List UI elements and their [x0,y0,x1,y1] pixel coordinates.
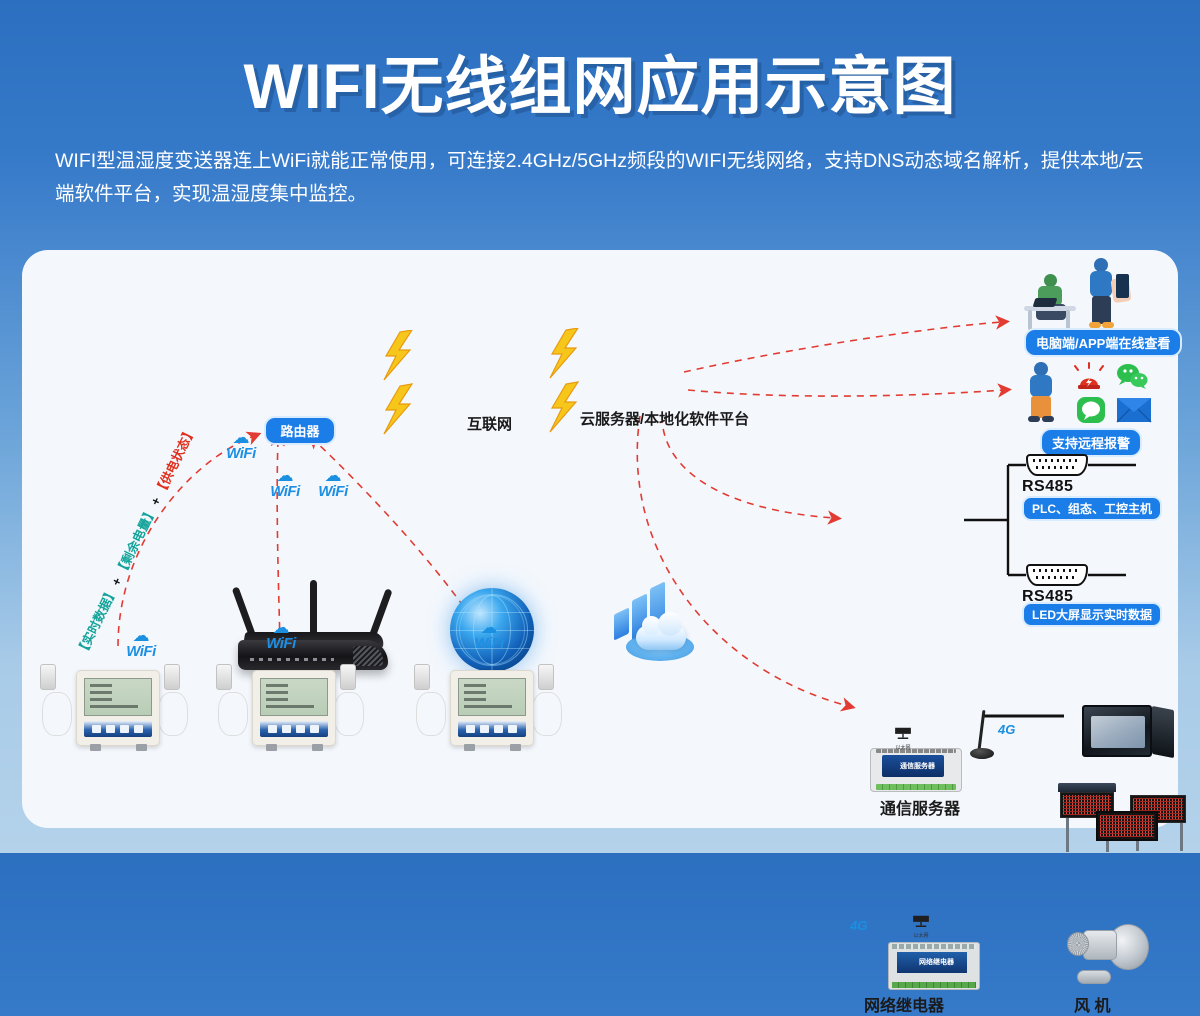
rs485-connector-top-icon [1026,454,1088,476]
ethernet-icon-bottom: 以太网 [908,914,934,939]
remote-alarm-label: 支持远程报警 [1040,428,1142,457]
cloud-server-label: 云服务器/本地化软件平台 [580,408,749,429]
rs485-connector-bottom-icon [1026,564,1088,586]
page-subtitle: WIFI型温湿度变送器连上WiFi就能正常使用，可连接2.4GHz/5GHz频段… [55,145,1150,211]
uplink-segment-power: 【供电状态】 [153,424,198,498]
badge-4g-top: 4G [998,722,1015,737]
uplink-segment-battery: 【剩余电量】 [114,505,159,579]
wifi-icon-1: ☁WiFi [218,430,264,462]
communication-server-label: 通信服务器 [880,795,960,819]
alarm-user-illustration [1022,362,1066,424]
led-display-label: LED大屏显示实时数据 [1022,602,1162,627]
sensor-device-1 [32,658,204,770]
ethernet-tag-bottom: 以太网 [908,932,934,939]
industrial-monitor-device [1082,705,1174,763]
pc-user-illustration [1020,270,1080,332]
email-icon [1116,396,1152,424]
antenna-4g [966,710,1000,762]
sensor-device-2 [208,658,380,770]
sms-bubble-icon [1076,396,1106,424]
cloud-server-icon [610,585,708,663]
led-display-group [1052,783,1190,855]
network-relay-label: 网络继电器 [864,992,944,1016]
lightning-bolt-left-group [380,330,440,440]
plc-label: PLC、组态、工控主机 [1022,496,1162,521]
wechat-icon [1116,362,1148,390]
uplink-plus-2: + [148,495,164,508]
page-title: WIFI无线组网应用示意图 [0,36,1200,127]
uplink-data-annotation: 【实时数据】 + 【剩余电量】 + 【供电状态】 [71,423,199,659]
internet-label: 互联网 [467,413,512,434]
badge-4g-bottom: 4G [850,918,867,933]
blower-fan-device [1067,922,1149,984]
diagram-stage: 路由器 互联网 云服务器/本地化软件平台 [22,250,1178,828]
fan-label: 风 机 [1074,992,1110,1016]
wifi-icon-6: ☁WiFi [466,620,512,652]
page-header: WIFI无线组网应用示意图 WIFI型温湿度变送器连上WiFi就能正常使用，可连… [0,0,1200,250]
wifi-icon-2: ☁WiFi [262,468,308,500]
ethernet-icon-top: 以太网 [890,726,916,751]
pc-app-label: 电脑端/APP端在线查看 [1024,328,1182,357]
alarm-siren-icon [1074,362,1104,388]
router-label: 路由器 [264,416,336,445]
relay-screen-text: 网络继电器 [919,957,954,967]
rs485-label-top: RS485 [1022,478,1073,496]
ethernet-tag-top: 以太网 [890,744,916,751]
comm-server-screen-text: 通信服务器 [900,761,935,771]
wifi-icon-4: ☁WiFi [118,628,164,660]
uplink-segment-realtime: 【实时数据】 [75,585,120,659]
wifi-icon-3: ☁WiFi [310,468,356,500]
network-relay-device: 网络继电器 [888,942,980,990]
communication-server-device: 通信服务器 [870,748,962,792]
wifi-icon-5: ☁WiFi [258,620,304,652]
mobile-user-illustration [1080,258,1132,334]
sensor-device-3 [406,658,578,770]
